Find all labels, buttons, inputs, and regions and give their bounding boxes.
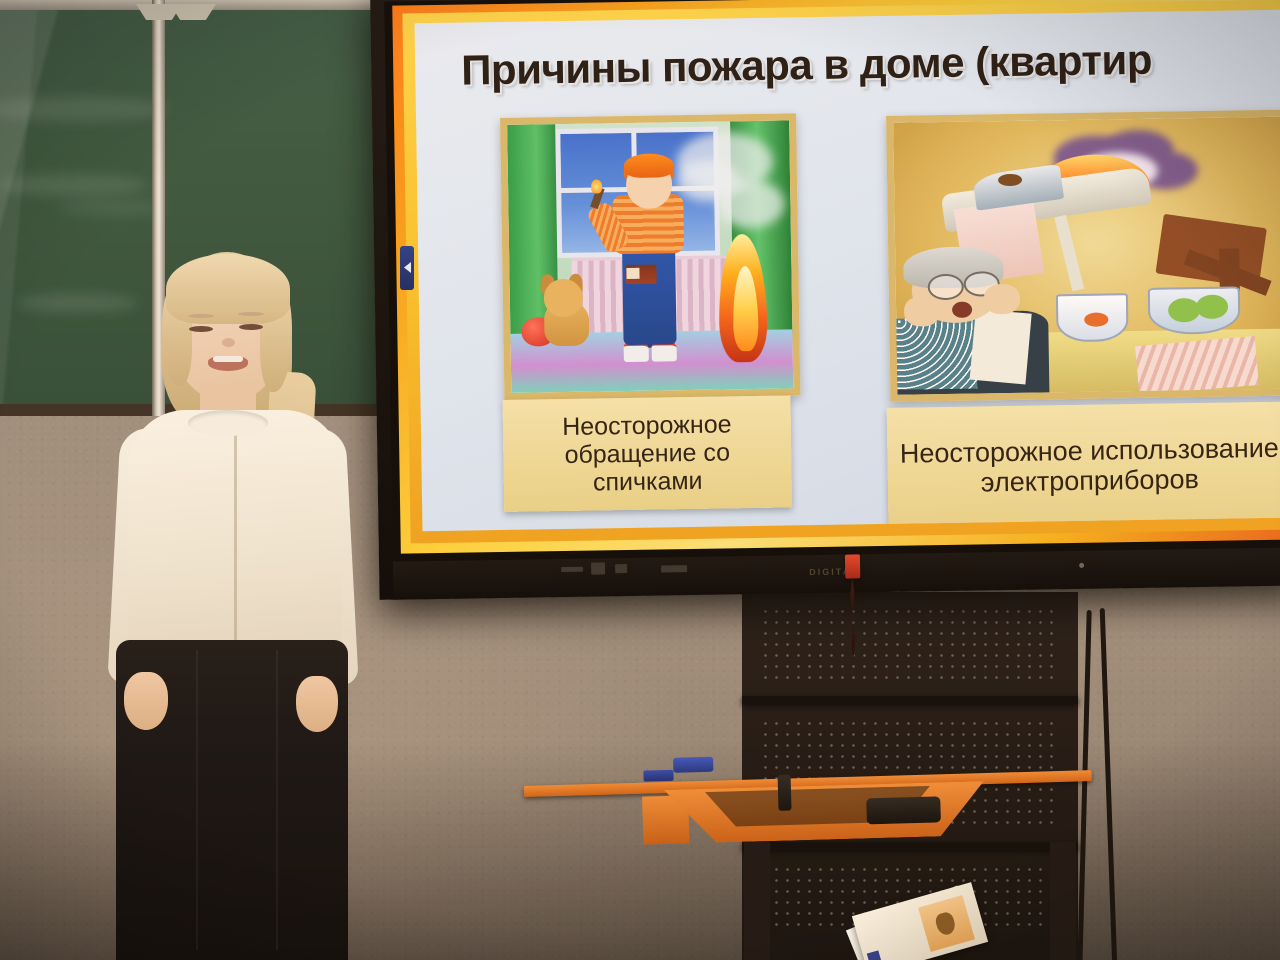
illustration-matchbox (625, 265, 656, 284)
slide-border-outer: Причины пожара в доме (квартир (392, 0, 1280, 554)
hand-left (124, 672, 168, 730)
screen-port-2[interactable] (615, 564, 627, 573)
interactive-whiteboard[interactable]: Причины пожара в доме (квартир (370, 0, 1280, 600)
classroom-photo: Причины пожара в доме (квартир (0, 0, 1280, 960)
blue-marker (673, 757, 713, 773)
cart-leg-right (1050, 842, 1076, 960)
screen-port-1[interactable] (561, 567, 583, 572)
slide-image-appliances (886, 109, 1280, 401)
screen-port-usb[interactable] (591, 562, 605, 574)
slide-image-matches (500, 113, 800, 400)
caption-left: Неосторожное обращение со спичками (502, 395, 792, 512)
black-tool-small (778, 775, 792, 811)
cart-leg-left (744, 842, 770, 960)
caption-right: Неосторожное использование электроприбор… (887, 402, 1280, 530)
screen-side-badge (400, 246, 414, 290)
screen-indicator-led (1079, 563, 1084, 568)
black-tool (866, 796, 941, 824)
paper-blue-mark (867, 950, 883, 960)
hand-right (296, 676, 338, 732)
cart-shelf-divider (742, 696, 1078, 704)
blue-marker-cap (643, 770, 673, 782)
drafting-tools-on-shelf (523, 734, 1096, 848)
screen-port-3[interactable] (661, 565, 687, 572)
sweater-collar (188, 410, 268, 436)
cart-perforated-panel-top (760, 606, 1060, 684)
slide-content: Причины пожара в доме (квартир (415, 9, 1280, 531)
presenter-girl (92, 252, 368, 960)
cart-shelf-lower (742, 842, 1078, 850)
usb-flash-drive[interactable] (845, 554, 860, 578)
paper-illustration (918, 895, 975, 952)
hair-top (166, 254, 290, 324)
slide-title: Причины пожара в доме (квартир (461, 33, 1280, 95)
